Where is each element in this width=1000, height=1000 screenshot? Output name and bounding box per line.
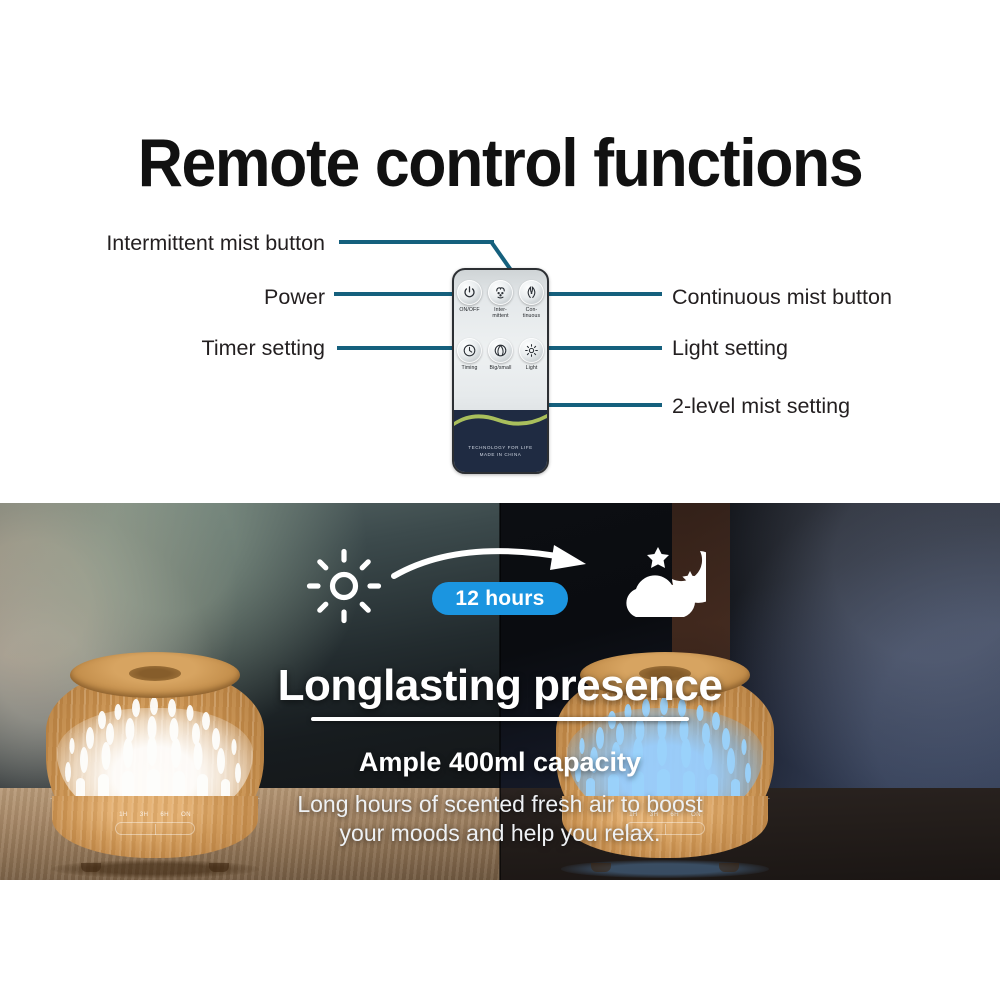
power-icon xyxy=(457,280,482,305)
continuous-button[interactable]: Con- tinuous xyxy=(519,280,545,319)
remote-footer: TECHNOLOGY FOR LIFE MADE IN CHINA xyxy=(454,410,547,472)
intermittent-mist-icon xyxy=(488,280,513,305)
connector-timer-h xyxy=(337,346,459,350)
connector-continuous-h xyxy=(541,292,662,296)
callout-label-intermittent: Intermittent mist button xyxy=(20,231,325,256)
connector-intermittent-h xyxy=(339,240,494,244)
remote-control: ON/OFF Inter- xyxy=(452,268,549,474)
timing-label: Timing xyxy=(457,365,483,371)
light-label: Light xyxy=(519,365,545,371)
mist-level-icon xyxy=(488,338,513,363)
continuous-mist-icon xyxy=(519,280,544,305)
moon-cloud-stars-icon xyxy=(614,543,706,625)
curved-arrow-icon xyxy=(390,540,620,586)
intermittent-label: Inter- mittent xyxy=(488,307,514,319)
page-title: Remote control functions xyxy=(40,124,960,202)
timing-button[interactable]: Timing xyxy=(457,338,483,371)
hours-badge-label: 12 hours xyxy=(455,587,544,611)
device-feet-day xyxy=(81,862,229,872)
onoff-label: ON/OFF xyxy=(457,307,483,313)
sun-icon xyxy=(306,548,382,624)
device-feet-night xyxy=(591,862,739,872)
callout-label-timer: Timer setting xyxy=(20,336,325,361)
callout-label-power: Power xyxy=(20,285,325,310)
intermittent-button[interactable]: Inter- mittent xyxy=(488,280,514,319)
light-button[interactable]: Light xyxy=(519,338,545,371)
clock-icon xyxy=(457,338,482,363)
body-text-line-1: Long hours of scented fresh air to boost xyxy=(0,791,1000,818)
bigsmall-label: Big/small xyxy=(488,365,514,371)
subheadline: Ample 400ml capacity xyxy=(0,747,1000,778)
light-sun-icon xyxy=(519,338,544,363)
connector-power-h xyxy=(334,292,459,296)
callout-label-2level: 2-level mist setting xyxy=(672,394,992,419)
bottom-whitespace xyxy=(0,880,1000,1000)
remote-footer-text: TECHNOLOGY FOR LIFE MADE IN CHINA xyxy=(454,444,547,458)
headline-divider xyxy=(311,717,689,721)
hours-badge: 12 hours xyxy=(432,582,568,615)
headline: Longlasting presence xyxy=(0,661,1000,711)
bigsmall-button[interactable]: Big/small xyxy=(488,338,514,371)
callout-label-continuous: Continuous mist button xyxy=(672,285,992,310)
connector-light-h xyxy=(541,346,662,350)
onoff-button[interactable]: ON/OFF xyxy=(457,280,483,319)
callout-label-light: Light setting xyxy=(672,336,992,361)
body-text-line-2: your moods and help you relax. xyxy=(0,820,1000,847)
remote-functions-section: Remote control functions Intermittent mi… xyxy=(0,0,1000,503)
remote-wave-graphic xyxy=(454,409,547,435)
continuous-label: Con- tinuous xyxy=(519,307,545,319)
remote-button-face: ON/OFF Inter- xyxy=(454,270,547,418)
